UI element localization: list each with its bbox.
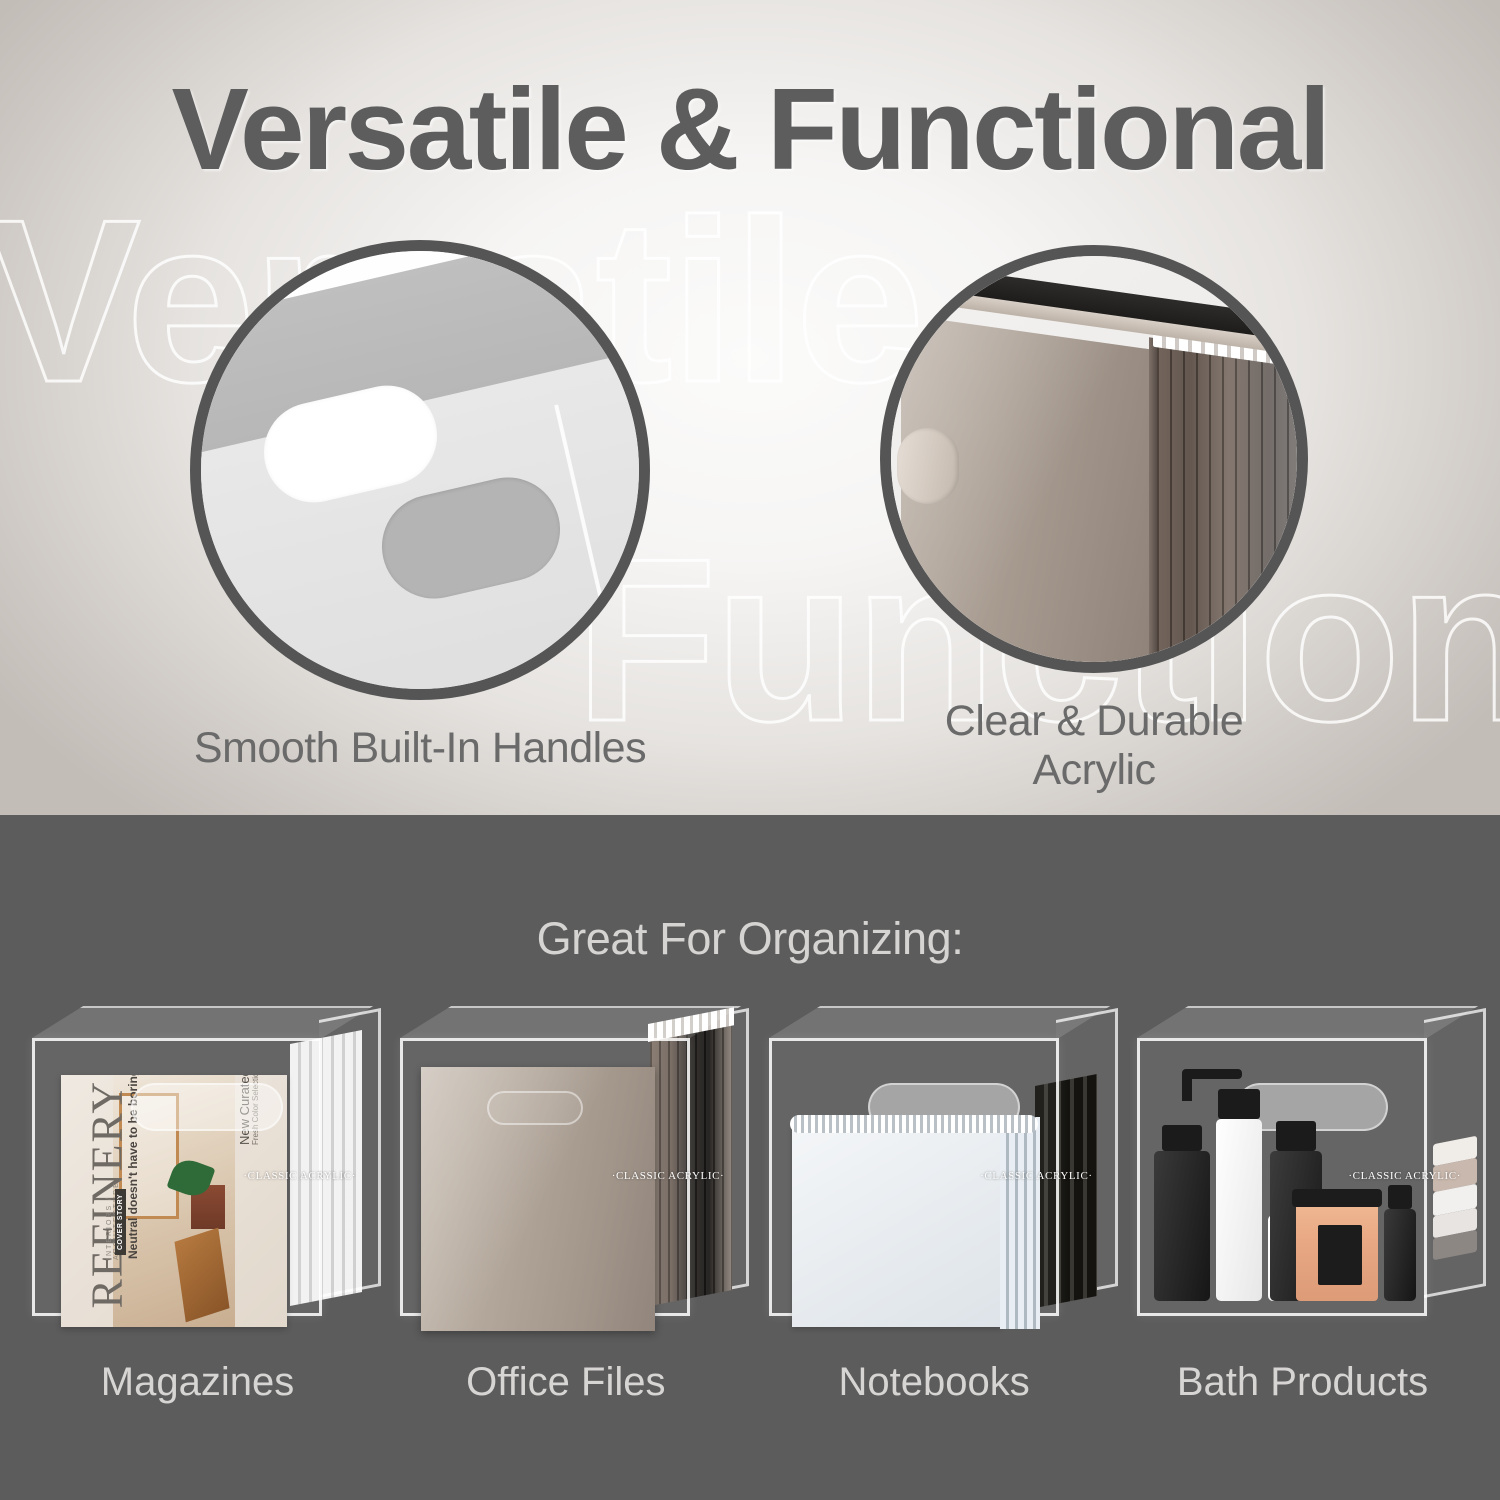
acrylic-bin: ·CLASSIC ACRYLIC· — [1137, 1020, 1467, 1320]
organizing-heading: Great For Organizing: — [0, 913, 1500, 965]
brand-label: ·CLASSIC ACRYLIC· — [980, 1170, 1093, 1182]
notebook-stack — [1000, 1117, 1040, 1329]
bin-top-edge — [400, 1006, 741, 1038]
magazine-photo-lamp — [191, 1185, 225, 1229]
spiral-notepad — [792, 1123, 1002, 1327]
bin-top-edge — [32, 1006, 373, 1038]
bath-salt-jar-lid — [1292, 1189, 1382, 1207]
brand-label: ·CLASSIC ACRYLIC· — [1348, 1170, 1461, 1182]
brand-label: ·CLASSIC ACRYLIC· — [612, 1170, 725, 1182]
feature-handles-caption: Smooth Built-In Handles — [190, 724, 650, 773]
magazine-photo-chair — [174, 1228, 229, 1323]
acrylic-edge-closeup-icon — [880, 245, 1308, 673]
black-mister-cap — [1388, 1185, 1412, 1209]
use-case-bath-products: ·CLASSIC ACRYLIC· — [1125, 1010, 1480, 1350]
white-bottle-cap — [1218, 1089, 1260, 1119]
feature-acrylic-caption: Clear & Durable Acrylic — [880, 697, 1308, 795]
use-case-bins-row: REFINERY INTERIORS / ARCHITECTURE COVER … — [0, 1010, 1500, 1350]
use-case-magazines: REFINERY INTERIORS / ARCHITECTURE COVER … — [20, 1010, 375, 1350]
spiral-binding-icon — [790, 1115, 1038, 1133]
brand-label: ·CLASSIC ACRYLIC· — [243, 1170, 356, 1182]
bin-top-edge — [1137, 1006, 1478, 1038]
acrylic-bin: ·CLASSIC ACRYLIC· — [769, 1020, 1099, 1320]
bin-top-edge — [769, 1006, 1110, 1038]
use-case-office-files: ·CLASSIC ACRYLIC· — [388, 1010, 743, 1350]
pump-nozzle-icon — [1182, 1069, 1242, 1079]
organizing-section: Great For Organizing: REFINERY INTERIORS… — [0, 815, 1500, 1500]
label-magazines: Magazines — [20, 1360, 375, 1405]
acrylic-bin: ·CLASSIC ACRYLIC· — [400, 1020, 730, 1320]
use-case-notebooks: ·CLASSIC ACRYLIC· — [757, 1010, 1112, 1350]
feature-handles: Smooth Built-In Handles — [190, 240, 650, 773]
label-bath-products: Bath Products — [1125, 1360, 1480, 1405]
bin-handle-cutout-icon — [131, 1083, 283, 1131]
acrylic-bin: REFINERY INTERIORS / ARCHITECTURE COVER … — [32, 1020, 362, 1320]
label-office-files: Office Files — [388, 1360, 743, 1405]
black-bottle-cap — [1276, 1121, 1316, 1151]
magazine-cover-badge: COVER STORY — [115, 1189, 126, 1255]
bath-salt-jar-label — [1318, 1225, 1362, 1285]
features-section: Versatile Function Versatile & Functiona… — [0, 0, 1500, 815]
file-handle-cutout-icon — [487, 1091, 583, 1125]
handle-cutout-icon — [897, 428, 959, 504]
black-pump-bottle — [1154, 1151, 1210, 1301]
black-pump-collar — [1162, 1125, 1202, 1151]
label-notebooks: Notebooks — [757, 1360, 1112, 1405]
use-case-labels-row: Magazines Office Files Notebooks Bath Pr… — [0, 1360, 1500, 1405]
bin-handle-closeup-icon — [190, 240, 650, 700]
feature-acrylic: Clear & Durable Acrylic — [880, 245, 1308, 795]
file-folder-lines — [1157, 331, 1307, 673]
page-title: Versatile & Functional — [0, 62, 1500, 196]
white-bottle — [1216, 1119, 1262, 1301]
black-mister-bottle — [1384, 1209, 1416, 1301]
